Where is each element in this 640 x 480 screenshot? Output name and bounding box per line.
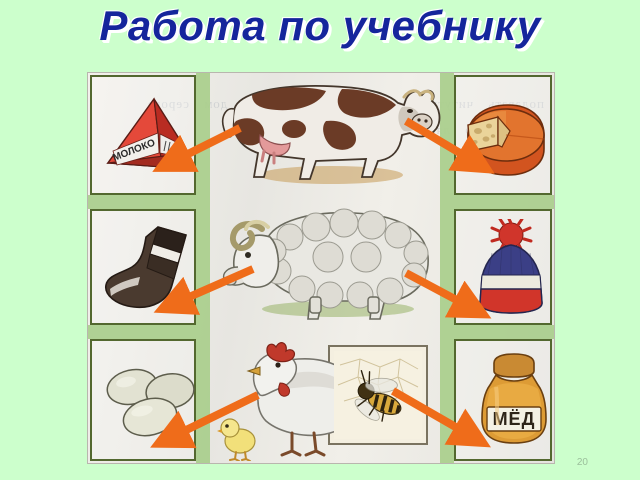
grid-divider-horizontal-top: [88, 195, 196, 209]
textbook-image: подавать читуть давать школьно ест на до…: [88, 73, 554, 463]
bee-icon: [334, 351, 422, 439]
slide: Работа по учебнику подавать читуть дават…: [0, 0, 640, 480]
honey-jar-icon: МЁД: [474, 351, 554, 451]
cow-icon: [206, 77, 446, 203]
chick-icon: [216, 411, 262, 461]
cheese-wheel-icon: [462, 95, 548, 179]
knit-hat-icon: [470, 219, 552, 317]
sheep-icon: [218, 201, 444, 327]
page-number: 20: [577, 457, 588, 468]
grid-divider-horizontal-top-right: [454, 195, 554, 209]
grid-divider-horizontal-bottom-right: [454, 325, 554, 339]
page-title: Работа по учебнику: [0, 2, 640, 50]
milk-carton-icon: МОЛОКО: [102, 91, 192, 177]
eggs-icon: [102, 359, 198, 447]
grid-divider-horizontal-bottom: [88, 325, 196, 339]
wool-sock-icon: [100, 223, 194, 313]
